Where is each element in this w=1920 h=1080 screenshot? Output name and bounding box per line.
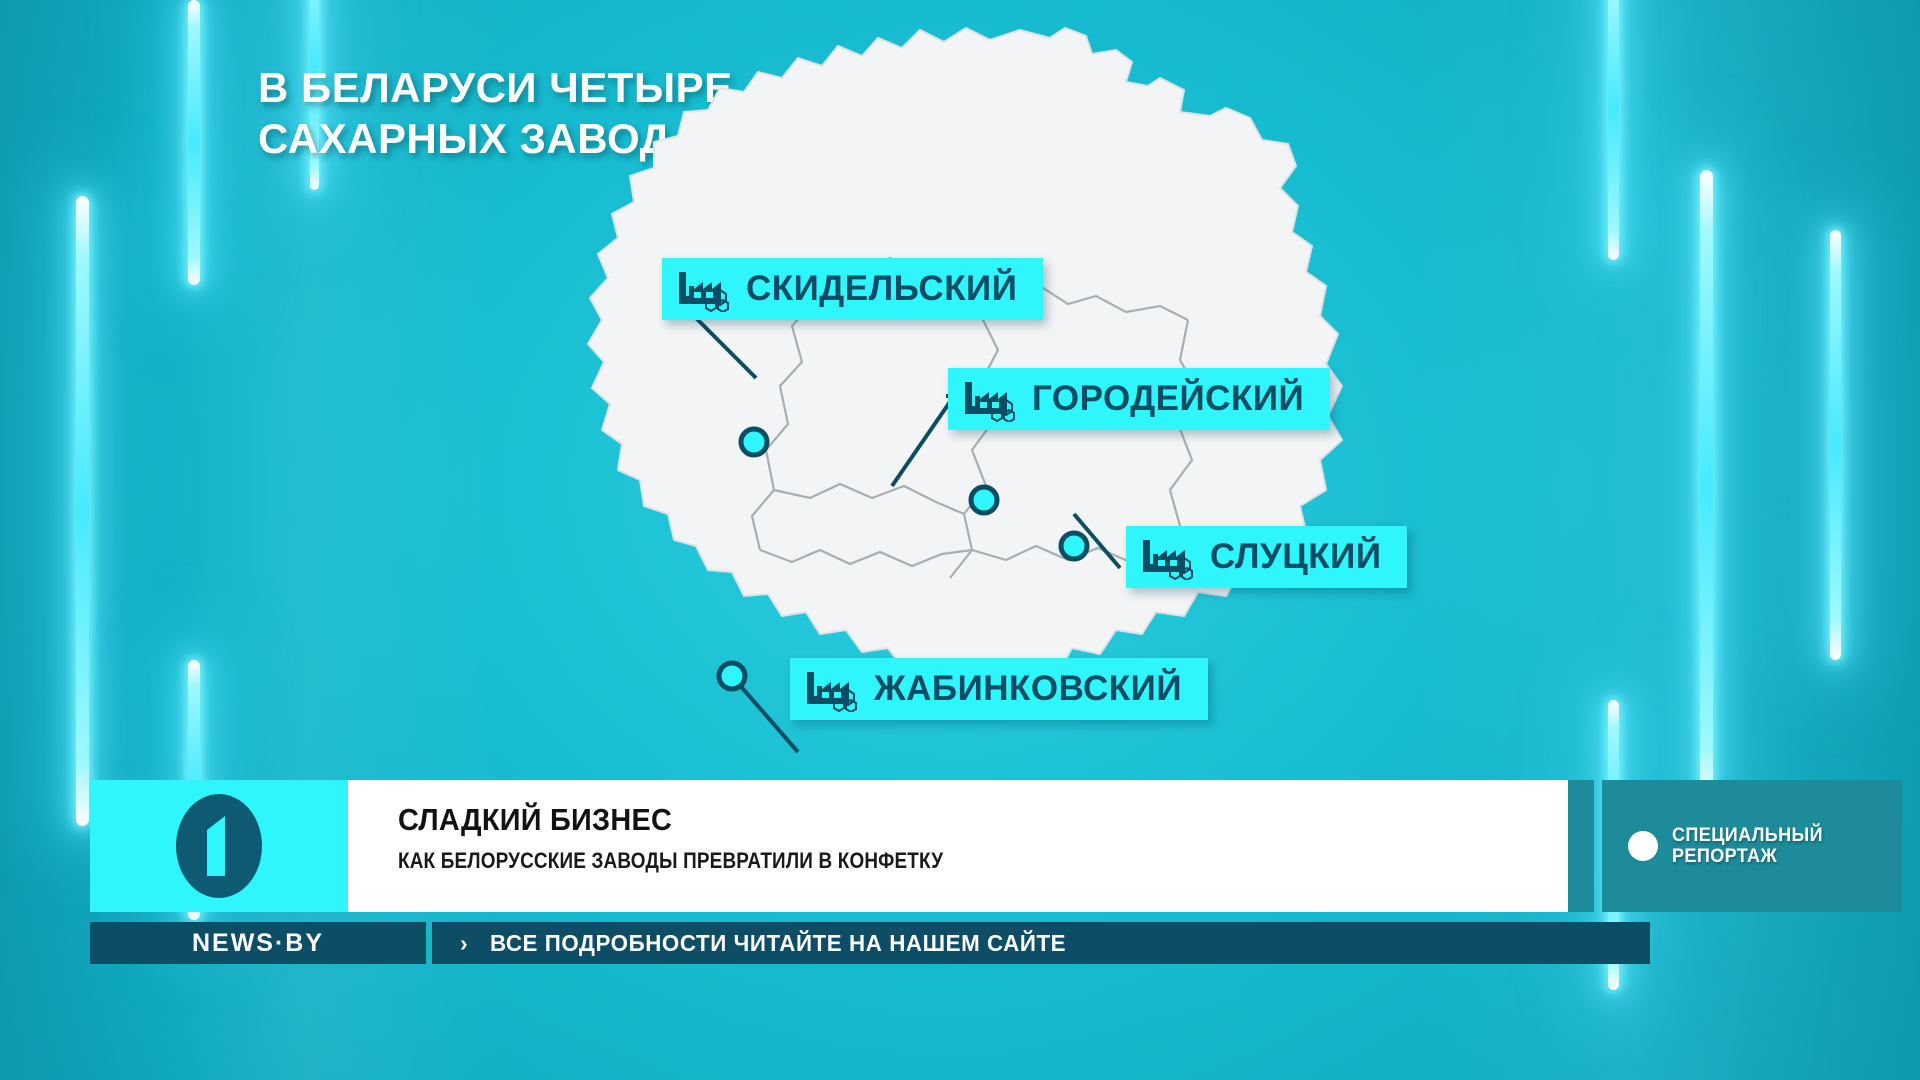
headline-block: СЛАДКИЙ БИЗНЕС КАК БЕЛОРУССКИЕ ЗАВОДЫ ПР… (348, 780, 1568, 912)
circle-icon (1628, 831, 1658, 861)
brand-box[interactable]: NEWS·BY (90, 922, 426, 964)
plant-marker-zhabinkovsky[interactable] (714, 658, 750, 694)
plant-marker-gorodeysky[interactable] (966, 482, 1002, 518)
story-kicker: СЛАДКИЙ БИЗНЕС (398, 802, 1486, 838)
belarus-map: СКИДЕЛЬСКИЙ ГОРОДЕЙСКИЙ (0, 0, 1920, 1080)
chevron-right-icon: › (460, 932, 468, 955)
lower-third: СЛАДКИЙ БИЗНЕС КАК БЕЛОРУССКИЕ ЗАВОДЫ ПР… (90, 780, 1650, 912)
ticker-bar: NEWS·BY › ВСЕ ПОДРОБНОСТИ ЧИТАЙТЕ НА НАШ… (90, 922, 1650, 964)
plant-label-text: СКИДЕЛЬСКИЙ (746, 269, 1017, 309)
plant-marker-skidelsky[interactable] (736, 424, 772, 460)
ticker-message[interactable]: › ВСЕ ПОДРОБНОСТИ ЧИТАЙТЕ НА НАШЕМ САЙТЕ (432, 922, 1650, 964)
story-subkicker: КАК БЕЛОРУССКИЕ ЗАВОДЫ ПРЕВРАТИЛИ В КОНФ… (398, 848, 1404, 874)
sugar-factory-icon (804, 666, 860, 712)
channel-logo[interactable] (90, 780, 348, 912)
ticker-text: ВСЕ ПОДРОБНОСТИ ЧИТАЙТЕ НА НАШЕМ САЙТЕ (490, 930, 1066, 957)
plant-label-skidelsky[interactable]: СКИДЕЛЬСКИЙ (662, 258, 1043, 320)
sugar-factory-icon (962, 376, 1018, 422)
plant-label-text: СЛУЦКИЙ (1210, 537, 1381, 577)
plant-marker-slutsky[interactable] (1056, 528, 1092, 564)
brand-text: NEWS·BY (192, 929, 324, 958)
plant-label-text: ЖАБИНКОВСКИЙ (874, 669, 1182, 709)
status-badge-text: СПЕЦИАЛЬНЫЙ РЕПОРТАЖ (1672, 825, 1823, 868)
status-badge: СПЕЦИАЛЬНЫЙ РЕПОРТАЖ (1602, 780, 1902, 912)
sugar-factory-icon (676, 266, 732, 312)
plant-label-gorodeysky[interactable]: ГОРОДЕЙСКИЙ (948, 368, 1330, 430)
plant-label-zhabinkovsky[interactable]: ЖАБИНКОВСКИЙ (790, 658, 1208, 720)
sugar-factory-icon (1140, 534, 1196, 580)
badge-divider (1568, 780, 1594, 912)
ont-one-logo-icon (159, 786, 279, 906)
plant-label-slutsky[interactable]: СЛУЦКИЙ (1126, 526, 1407, 588)
plant-label-text: ГОРОДЕЙСКИЙ (1032, 379, 1304, 419)
